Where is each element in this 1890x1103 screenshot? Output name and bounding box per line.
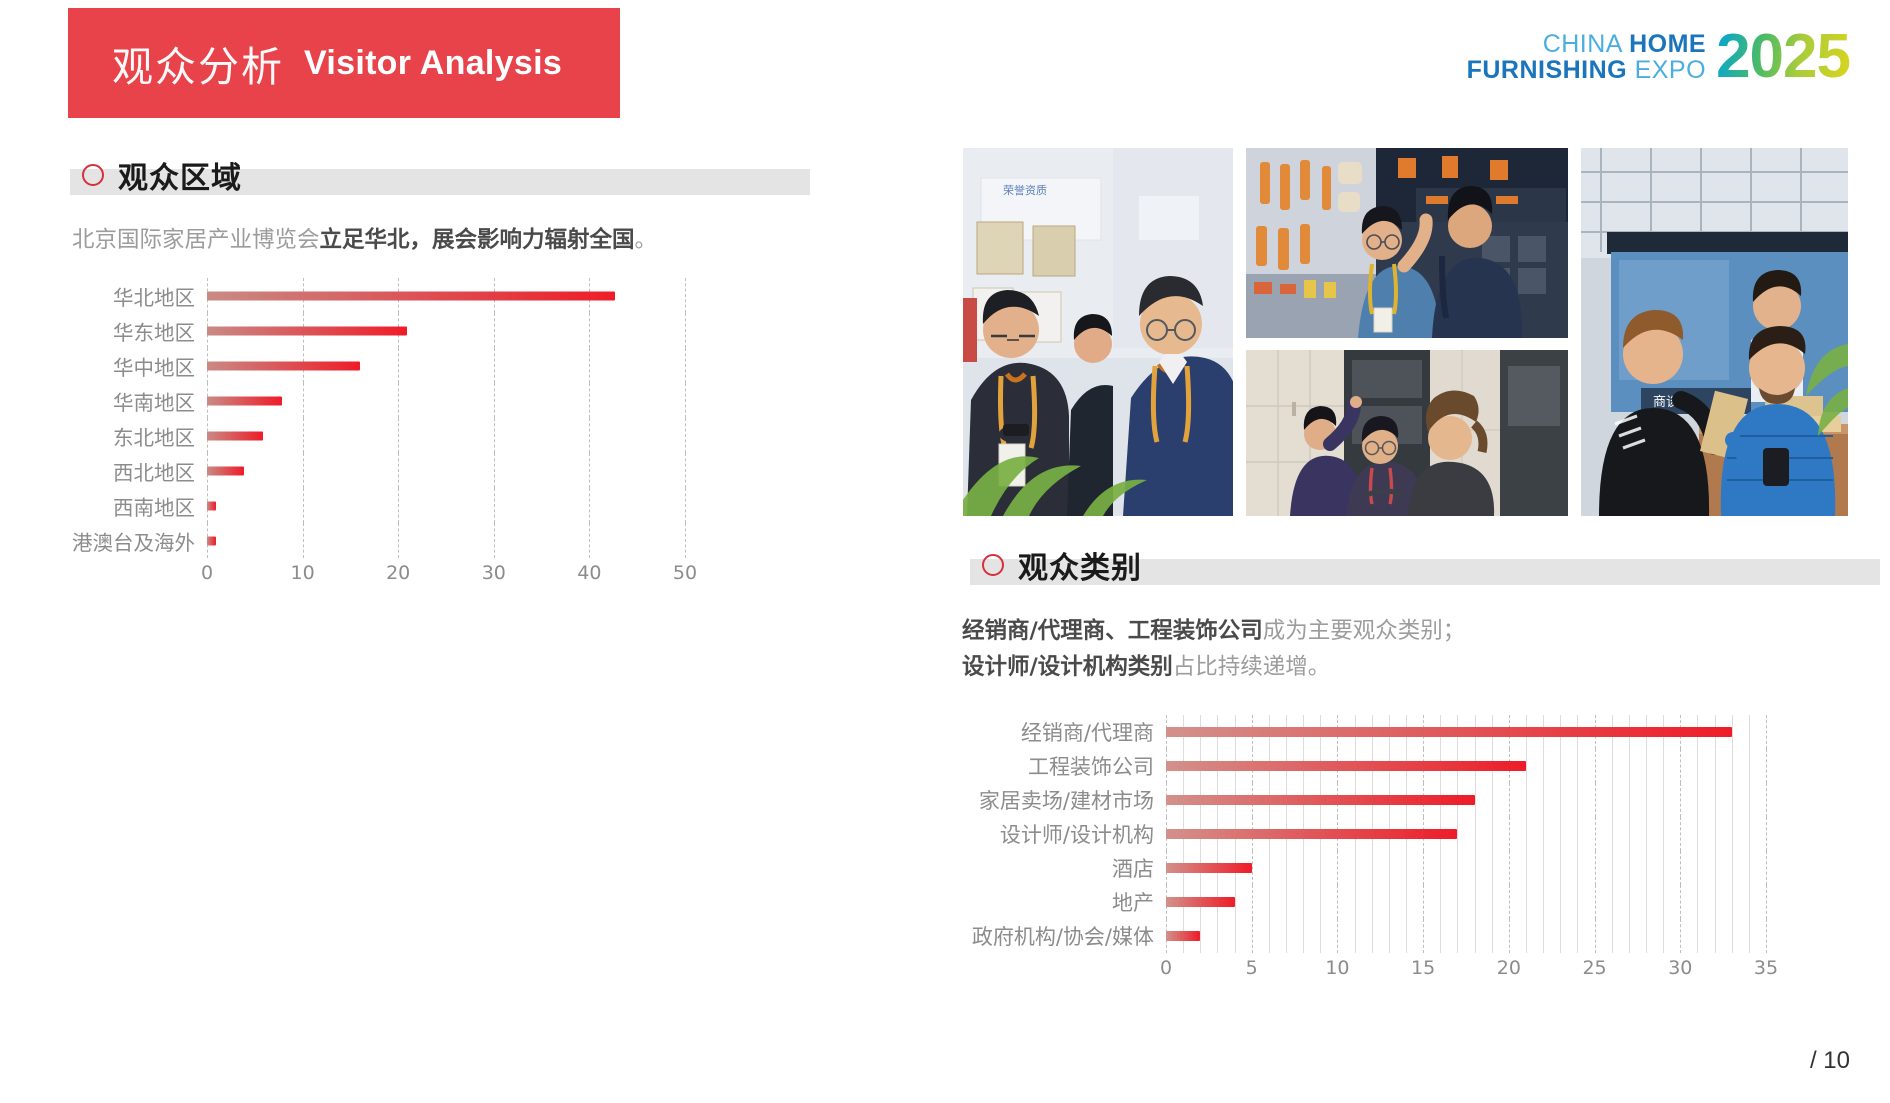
gridline-minor — [1612, 817, 1613, 851]
gridline-major — [685, 488, 686, 523]
gridline-major — [685, 418, 686, 453]
chart-row: 经销商/代理商 — [952, 715, 1852, 749]
gridline-minor — [1663, 783, 1664, 817]
gridline-major — [589, 348, 590, 383]
chart-bar — [207, 326, 407, 335]
gridline-major — [1595, 783, 1596, 817]
gridline-major — [398, 383, 399, 418]
gridline-minor — [1389, 885, 1390, 919]
chart-row: 港澳台及海外 — [62, 523, 762, 558]
chart-region-x-axis: 01020304050 — [207, 558, 685, 592]
gridline-minor — [1235, 885, 1236, 919]
chart-category-label: 设计师/设计机构 — [952, 819, 1166, 849]
gridline-major — [589, 453, 590, 488]
page-header-banner: 观众分析 Visitor Analysis — [68, 8, 620, 118]
gridline-minor — [1732, 749, 1733, 783]
gridline-minor — [1577, 749, 1578, 783]
logo-line-1: CHINA HOME — [1543, 32, 1706, 58]
chart-category-label: 华南地区 — [62, 386, 207, 416]
gridline-minor — [1749, 851, 1750, 885]
chart-row: 华北地区 — [62, 278, 762, 313]
gridline-minor — [1492, 817, 1493, 851]
circle-bullet-icon — [82, 164, 104, 186]
gridline-minor — [1663, 919, 1664, 953]
chart-category-label: 工程装饰公司 — [952, 751, 1166, 781]
gridline-major — [494, 313, 495, 348]
gridline-major — [589, 313, 590, 348]
gridline-minor — [1697, 919, 1698, 953]
chart-category-label: 酒店 — [952, 853, 1166, 883]
gridline-major — [685, 313, 686, 348]
logo-china-text: CHINA — [1543, 30, 1629, 58]
gridline-minor — [1560, 817, 1561, 851]
photo-cabinet-showroom-visitors — [1246, 350, 1568, 516]
gridline-major — [1766, 919, 1767, 953]
chart-x-tick-label: 30 — [482, 562, 506, 584]
chart-x-tick-label: 40 — [577, 562, 601, 584]
gridline-major — [589, 523, 590, 558]
chart-category-label: 西南地区 — [62, 491, 207, 521]
gridline-minor — [1475, 783, 1476, 817]
gridline-major — [398, 348, 399, 383]
logo-expo-text: EXPO — [1635, 56, 1706, 84]
chart-x-tick-label: 20 — [386, 562, 410, 584]
section-heading-visitor-type: 观众类别 — [970, 545, 1880, 585]
gridline-major — [1252, 851, 1253, 885]
chart-x-tick-label: 15 — [1411, 957, 1435, 979]
gridline-minor — [1749, 715, 1750, 749]
gridline-major — [589, 383, 590, 418]
svg-text:荣誉资质: 荣誉资质 — [1003, 183, 1047, 197]
gridline-major — [303, 418, 304, 453]
gridline-minor — [1715, 817, 1716, 851]
gridline-minor — [1457, 885, 1458, 919]
chart-bar — [207, 501, 216, 510]
gridline-minor — [1457, 851, 1458, 885]
logo-year-2025: 2025 — [1716, 30, 1850, 83]
page-number: / 10 — [1810, 1047, 1850, 1075]
chart-bar — [1166, 897, 1235, 907]
gridline-major — [1766, 851, 1767, 885]
gridline-major — [1595, 851, 1596, 885]
gridline-minor — [1526, 919, 1527, 953]
caption-type-bold-2: 设计师/设计机构类别 — [962, 654, 1173, 680]
gridline-minor — [1235, 919, 1236, 953]
gridline-major — [1337, 851, 1338, 885]
gridline-minor — [1732, 851, 1733, 885]
gridline-major — [1423, 885, 1424, 919]
photo-hardware-tools-booth — [1246, 148, 1568, 338]
chart-category-label: 西北地区 — [62, 456, 207, 486]
gridline-minor — [1715, 919, 1716, 953]
gridline-major — [685, 383, 686, 418]
gridline-minor — [1406, 919, 1407, 953]
chart-plot-area — [1166, 919, 1766, 953]
gridline-minor — [1560, 885, 1561, 919]
gridline-minor — [1749, 919, 1750, 953]
gridline-minor — [1629, 783, 1630, 817]
gridline-major — [1766, 715, 1767, 749]
gridline-major — [303, 523, 304, 558]
chart-category-label: 华东地区 — [62, 316, 207, 346]
gridline-minor — [1457, 919, 1458, 953]
gridline-major — [1423, 919, 1424, 953]
page-title-chinese: 观众分析 — [112, 33, 284, 93]
gridline-minor — [1475, 817, 1476, 851]
gridline-major — [494, 523, 495, 558]
gridline-minor — [1543, 885, 1544, 919]
photo-international-visitors: 商谈区 — [1581, 148, 1848, 516]
chart-type-x-axis: 05101520253035 — [1166, 953, 1766, 987]
gridline-minor — [1612, 885, 1613, 919]
gridline-major — [685, 348, 686, 383]
gridline-major — [303, 488, 304, 523]
gridline-minor — [1732, 885, 1733, 919]
gridline-minor — [1269, 919, 1270, 953]
gridline-major — [1337, 885, 1338, 919]
gridline-minor — [1697, 749, 1698, 783]
gridline-minor — [1612, 749, 1613, 783]
chart-plot-area — [1166, 715, 1766, 749]
gridline-minor — [1577, 885, 1578, 919]
gridline-minor — [1732, 783, 1733, 817]
gridline-minor — [1629, 851, 1630, 885]
chart-plot-area — [207, 453, 685, 488]
section-title-text: 观众类别 — [1018, 543, 1142, 587]
gridline-minor — [1286, 919, 1287, 953]
gridline-minor — [1457, 817, 1458, 851]
gridline-minor — [1646, 749, 1647, 783]
gridline-minor — [1629, 817, 1630, 851]
chart-visitor-type: 经销商/代理商工程装饰公司家居卖场/建材市场设计师/设计机构酒店地产政府机构/协… — [952, 715, 1852, 987]
chart-category-label: 华北地区 — [62, 281, 207, 311]
chart-row: 华中地区 — [62, 348, 762, 383]
chart-row: 华南地区 — [62, 383, 762, 418]
gridline-minor — [1697, 783, 1698, 817]
gridline-major — [398, 418, 399, 453]
gridline-major — [494, 488, 495, 523]
gridline-minor — [1663, 885, 1664, 919]
chart-bar — [207, 431, 263, 440]
gridline-minor — [1749, 885, 1750, 919]
gridline-major — [303, 453, 304, 488]
gridline-minor — [1492, 919, 1493, 953]
gridline-minor — [1355, 851, 1356, 885]
gridline-minor — [1269, 885, 1270, 919]
gridline-minor — [1697, 885, 1698, 919]
gridline-major — [1423, 851, 1424, 885]
gridline-major — [685, 523, 686, 558]
chart-plot-area — [207, 313, 685, 348]
chart-category-label: 政府机构/协会/媒体 — [952, 921, 1166, 951]
gridline-minor — [1303, 919, 1304, 953]
gridline-minor — [1732, 715, 1733, 749]
chart-x-tick-label: 20 — [1497, 957, 1521, 979]
chart-category-label: 东北地区 — [62, 421, 207, 451]
caption-type-plain-1: 成为主要观众类别； — [1263, 618, 1466, 644]
gridline-minor — [1749, 817, 1750, 851]
chart-row: 西南地区 — [62, 488, 762, 523]
chart-row: 酒店 — [952, 851, 1852, 885]
chart-x-tick-label: 0 — [1160, 957, 1172, 979]
gridline-minor — [1372, 919, 1373, 953]
gridline-minor — [1526, 749, 1527, 783]
chart-x-tick-label: 50 — [673, 562, 697, 584]
photo-collage: 荣誉资质 — [963, 148, 1848, 516]
gridline-minor — [1732, 919, 1733, 953]
chart-bar — [207, 396, 282, 405]
logo-wordmark: CHINA HOME FURNISHING EXPO — [1467, 32, 1706, 83]
gridline-major — [494, 348, 495, 383]
gridline-minor — [1697, 817, 1698, 851]
gridline-minor — [1663, 817, 1664, 851]
gridline-major — [1680, 817, 1681, 851]
gridline-minor — [1269, 851, 1270, 885]
chart-bar — [207, 291, 615, 300]
chart-plot-area — [207, 488, 685, 523]
caption-visitor-region: 北京国际家居产业博览会立足华北，展会影响力辐射全国。 — [72, 222, 657, 258]
chart-row: 地产 — [952, 885, 1852, 919]
gridline-major — [1766, 817, 1767, 851]
gridline-minor — [1475, 885, 1476, 919]
logo-home-text: HOME — [1629, 30, 1706, 58]
gridline-minor — [1749, 783, 1750, 817]
gridline-minor — [1663, 749, 1664, 783]
gridline-minor — [1560, 749, 1561, 783]
chart-plot-area — [1166, 817, 1766, 851]
gridline-minor — [1577, 817, 1578, 851]
chart-plot-area — [207, 348, 685, 383]
gridline-minor — [1355, 885, 1356, 919]
chart-bar — [1166, 761, 1526, 771]
gridline-minor — [1389, 919, 1390, 953]
caption-region-plain-2: 。 — [635, 227, 658, 253]
gridline-minor — [1646, 919, 1647, 953]
gridline-minor — [1526, 851, 1527, 885]
gridline-minor — [1629, 919, 1630, 953]
gridline-major — [1509, 783, 1510, 817]
gridline-minor — [1320, 851, 1321, 885]
chart-plot-area — [207, 418, 685, 453]
gridline-minor — [1372, 851, 1373, 885]
section-heading-visitor-region: 观众区域 — [70, 155, 810, 195]
chart-row: 西北地区 — [62, 453, 762, 488]
gridline-major — [1595, 885, 1596, 919]
chart-bar — [1166, 727, 1732, 737]
gridline-minor — [1492, 851, 1493, 885]
gridline-major — [1595, 817, 1596, 851]
gridline-minor — [1560, 851, 1561, 885]
gridline-minor — [1320, 885, 1321, 919]
chart-category-label: 家居卖场/建材市场 — [952, 785, 1166, 815]
chart-x-tick-label: 10 — [1325, 957, 1349, 979]
gridline-major — [1680, 885, 1681, 919]
gridline-minor — [1663, 851, 1664, 885]
chart-row: 家居卖场/建材市场 — [952, 783, 1852, 817]
gridline-minor — [1749, 749, 1750, 783]
gridline-minor — [1355, 919, 1356, 953]
gridline-major — [1680, 749, 1681, 783]
caption-type-line-2: 设计师/设计机构类别占比持续递增。 — [962, 649, 1465, 685]
chart-type-rows: 经销商/代理商工程装饰公司家居卖场/建材市场设计师/设计机构酒店地产政府机构/协… — [952, 715, 1852, 953]
gridline-minor — [1286, 885, 1287, 919]
gridline-minor — [1577, 851, 1578, 885]
chart-bar — [207, 361, 360, 370]
gridline-major — [1509, 817, 1510, 851]
gridline-minor — [1440, 919, 1441, 953]
chart-category-label: 地产 — [952, 887, 1166, 917]
gridline-minor — [1406, 885, 1407, 919]
gridline-minor — [1492, 885, 1493, 919]
south-china-sea-inset — [776, 916, 904, 1060]
chart-row: 工程装饰公司 — [952, 749, 1852, 783]
gridline-minor — [1372, 885, 1373, 919]
gridline-major — [1680, 851, 1681, 885]
chart-row: 华东地区 — [62, 313, 762, 348]
gridline-major — [398, 488, 399, 523]
chart-visitor-region: 华北地区华东地区华中地区华南地区东北地区西北地区西南地区港澳台及海外 01020… — [62, 278, 762, 592]
chart-x-tick-label: 0 — [201, 562, 213, 584]
gridline-major — [303, 383, 304, 418]
chart-bar — [1166, 931, 1200, 941]
gridline-minor — [1303, 885, 1304, 919]
gridline-minor — [1217, 919, 1218, 953]
chart-x-tick-label: 35 — [1754, 957, 1778, 979]
gridline-major — [685, 453, 686, 488]
gridline-major — [1337, 919, 1338, 953]
gridline-minor — [1577, 919, 1578, 953]
chart-bar — [207, 536, 216, 545]
gridline-major — [685, 278, 686, 313]
photo-exhibitor-booth-credentials: 荣誉资质 — [963, 148, 1233, 516]
chart-category-label: 华中地区 — [62, 351, 207, 381]
gridline-minor — [1612, 783, 1613, 817]
chart-bar — [207, 466, 244, 475]
gridline-major — [1595, 919, 1596, 953]
caption-type-bold-1: 经销商/代理商、工程装饰公司 — [962, 618, 1263, 644]
chart-plot-area — [207, 278, 685, 313]
gridline-major — [1509, 885, 1510, 919]
gridline-major — [1680, 783, 1681, 817]
gridline-major — [1766, 783, 1767, 817]
section-title-text: 观众区域 — [118, 153, 242, 197]
caption-region-bold-1: 立足华北，展会影响力辐射全国 — [320, 227, 635, 253]
gridline-major — [1680, 919, 1681, 953]
gridline-minor — [1303, 851, 1304, 885]
gridline-minor — [1612, 851, 1613, 885]
chart-plot-area — [1166, 851, 1766, 885]
caption-type-line-1: 经销商/代理商、工程装饰公司成为主要观众类别； — [962, 613, 1465, 649]
gridline-major — [1766, 749, 1767, 783]
chart-plot-area — [207, 383, 685, 418]
chart-category-label: 经销商/代理商 — [952, 717, 1166, 747]
chart-bar — [1166, 795, 1475, 805]
gridline-minor — [1320, 919, 1321, 953]
gridline-minor — [1715, 885, 1716, 919]
gridline-minor — [1732, 817, 1733, 851]
gridline-major — [494, 453, 495, 488]
gridline-major — [1252, 885, 1253, 919]
gridline-minor — [1560, 783, 1561, 817]
gridline-major — [398, 453, 399, 488]
gridline-major — [1252, 919, 1253, 953]
gridline-major — [494, 383, 495, 418]
logo-line-2: FURNISHING EXPO — [1467, 58, 1706, 84]
chart-plot-area — [1166, 885, 1766, 919]
gridline-minor — [1715, 851, 1716, 885]
chart-plot-area — [1166, 783, 1766, 817]
gridline-minor — [1286, 851, 1287, 885]
gridline-minor — [1389, 851, 1390, 885]
gridline-major — [589, 488, 590, 523]
gridline-major — [1595, 749, 1596, 783]
gridline-minor — [1646, 817, 1647, 851]
gridline-minor — [1715, 749, 1716, 783]
gridline-minor — [1629, 749, 1630, 783]
caption-type-plain-2: 占比持续递增。 — [1173, 654, 1331, 680]
logo-furnishing-text: FURNISHING — [1467, 56, 1635, 84]
chart-bar — [1166, 829, 1457, 839]
gridline-minor — [1440, 851, 1441, 885]
gridline-minor — [1560, 919, 1561, 953]
gridline-minor — [1646, 885, 1647, 919]
gridline-minor — [1715, 783, 1716, 817]
gridline-major — [1509, 919, 1510, 953]
gridline-minor — [1543, 817, 1544, 851]
gridline-minor — [1406, 851, 1407, 885]
chart-x-tick-label: 30 — [1668, 957, 1692, 979]
gridline-minor — [1440, 885, 1441, 919]
chart-row: 设计师/设计机构 — [952, 817, 1852, 851]
chart-row: 政府机构/协会/媒体 — [952, 919, 1852, 953]
gridline-minor — [1646, 783, 1647, 817]
gridline-major — [494, 418, 495, 453]
gridline-major — [1766, 885, 1767, 919]
gridline-major — [589, 418, 590, 453]
chart-plot-area — [1166, 749, 1766, 783]
circle-bullet-icon — [982, 554, 1004, 576]
chart-bar — [1166, 863, 1252, 873]
chart-x-tick-label: 5 — [1246, 957, 1258, 979]
page-title-english: Visitor Analysis — [304, 44, 562, 83]
gridline-minor — [1646, 851, 1647, 885]
caption-visitor-type: 经销商/代理商、工程装饰公司成为主要观众类别； 设计师/设计机构类别占比持续递增… — [962, 613, 1465, 686]
gridline-minor — [1577, 783, 1578, 817]
gridline-minor — [1475, 851, 1476, 885]
chart-x-tick-label: 10 — [291, 562, 315, 584]
gridline-minor — [1526, 817, 1527, 851]
gridline-minor — [1200, 919, 1201, 953]
gridline-major — [398, 523, 399, 558]
gridline-minor — [1526, 783, 1527, 817]
expo-logo: CHINA HOME FURNISHING EXPO 2025 — [1467, 30, 1850, 83]
gridline-minor — [1629, 885, 1630, 919]
gridline-minor — [1543, 749, 1544, 783]
chart-plot-area — [207, 523, 685, 558]
gridline-minor — [1543, 783, 1544, 817]
gridline-minor — [1612, 919, 1613, 953]
gridline-minor — [1543, 851, 1544, 885]
chart-region-rows: 华北地区华东地区华中地区华南地区东北地区西北地区西南地区港澳台及海外 — [62, 278, 762, 558]
gridline-minor — [1475, 919, 1476, 953]
gridline-minor — [1543, 919, 1544, 953]
chart-row: 东北地区 — [62, 418, 762, 453]
gridline-minor — [1526, 885, 1527, 919]
gridline-major — [1509, 851, 1510, 885]
caption-region-plain-1: 北京国际家居产业博览会 — [72, 227, 320, 253]
chart-x-tick-label: 25 — [1582, 957, 1606, 979]
gridline-minor — [1697, 851, 1698, 885]
